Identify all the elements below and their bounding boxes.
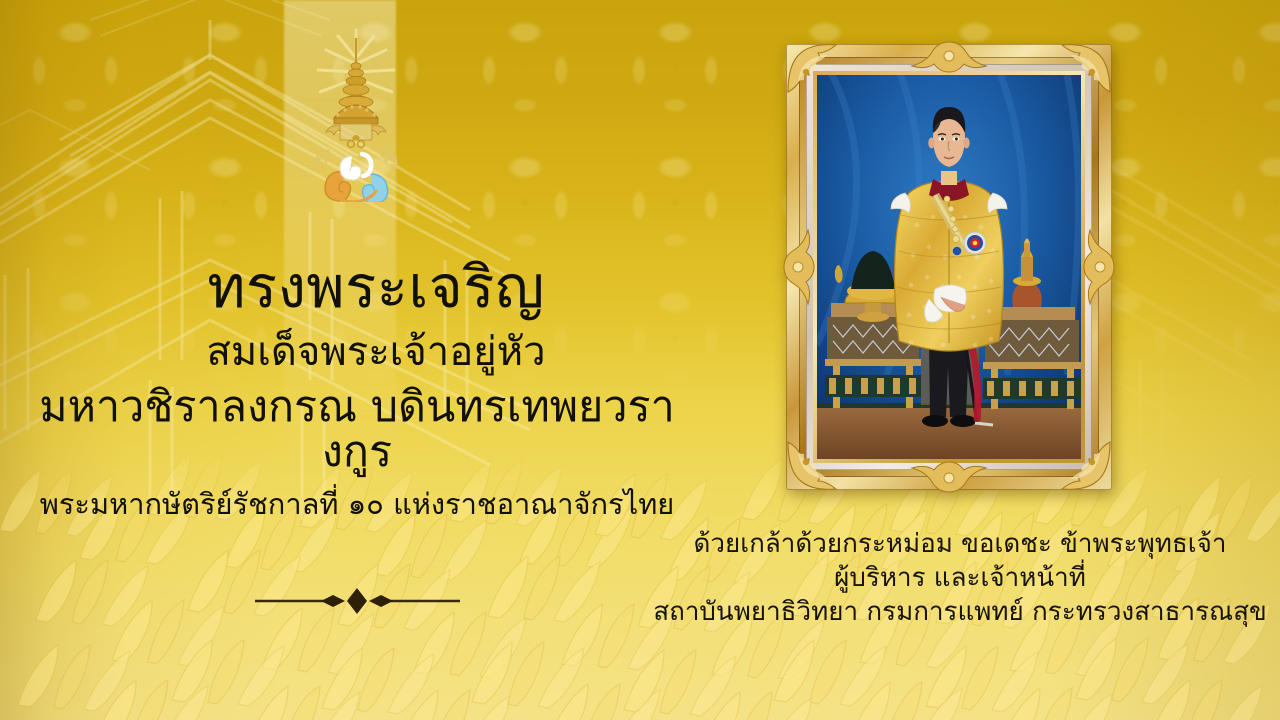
greeting-text-block: ทรงพระเจริญ สมเด็จพระเจ้าอยู่หัว มหาวชิร… [0, 258, 700, 520]
greeting-headline: ทรงพระเจริญ [0, 258, 700, 317]
signoff-line-1: ด้วยเกล้าด้วยกระหม่อม ขอเดชะ ข้าพระพุทธเ… [640, 528, 1280, 562]
greeting-subtitle-3: พระมหากษัตริย์รัชกาลที่ ๑๐ แห่งราชอาณาจั… [0, 489, 700, 519]
king-portrait-photo [817, 75, 1081, 459]
signoff-line-3: สถาบันพยาธิวิทยา กรมการแพทย์ กระทรวงสาธา… [640, 596, 1280, 630]
ornamental-divider [255, 588, 460, 614]
greeting-subtitle-1: สมเด็จพระเจ้าอยู่หัว [0, 331, 700, 373]
royal-greeting-card: ทรงพระเจริญ สมเด็จพระเจ้าอยู่หัว มหาวชิร… [0, 0, 1280, 720]
royal-cypher-emblem [300, 22, 412, 202]
greeting-subtitle-2: มหาวชิราลงกรณ บดินทรเทพยวรางกูร [0, 385, 700, 475]
portrait-frame [786, 44, 1112, 490]
signoff-block: ด้วยเกล้าด้วยกระหม่อม ขอเดชะ ข้าพระพุทธเ… [640, 528, 1280, 629]
signoff-line-2: ผู้บริหาร และเจ้าหน้าที่ [640, 562, 1280, 596]
